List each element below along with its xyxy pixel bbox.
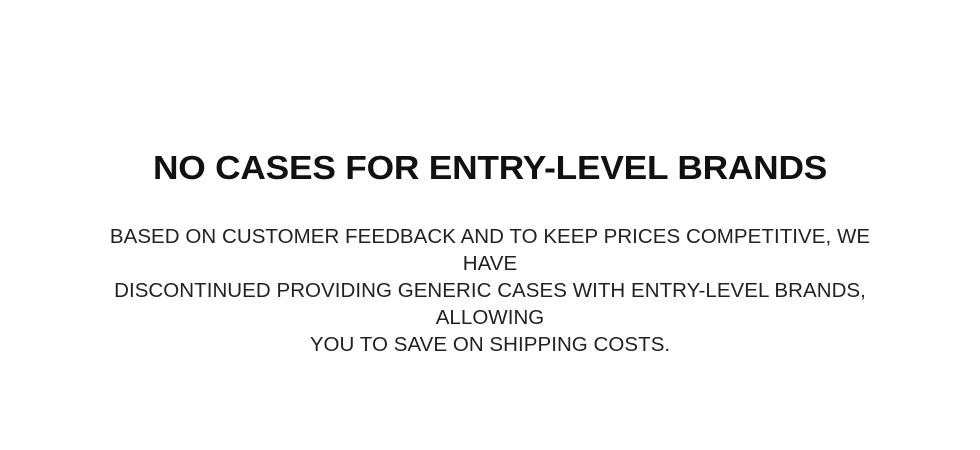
notice-body-line: DISCONTINUED PROVIDING GENERIC CASES WIT… [90, 277, 890, 331]
notice-body-text: BASED ON CUSTOMER FEEDBACK AND TO KEEP P… [90, 188, 890, 358]
page-title: NO CASES FOR ENTRY-LEVEL BRANDS [153, 148, 827, 188]
notice-section: NO CASES FOR ENTRY-LEVEL BRANDS BASED ON… [0, 0, 980, 450]
notice-body-line: YOU TO SAVE ON SHIPPING COSTS. [90, 331, 890, 358]
notice-body-line: BASED ON CUSTOMER FEEDBACK AND TO KEEP P… [90, 223, 890, 277]
